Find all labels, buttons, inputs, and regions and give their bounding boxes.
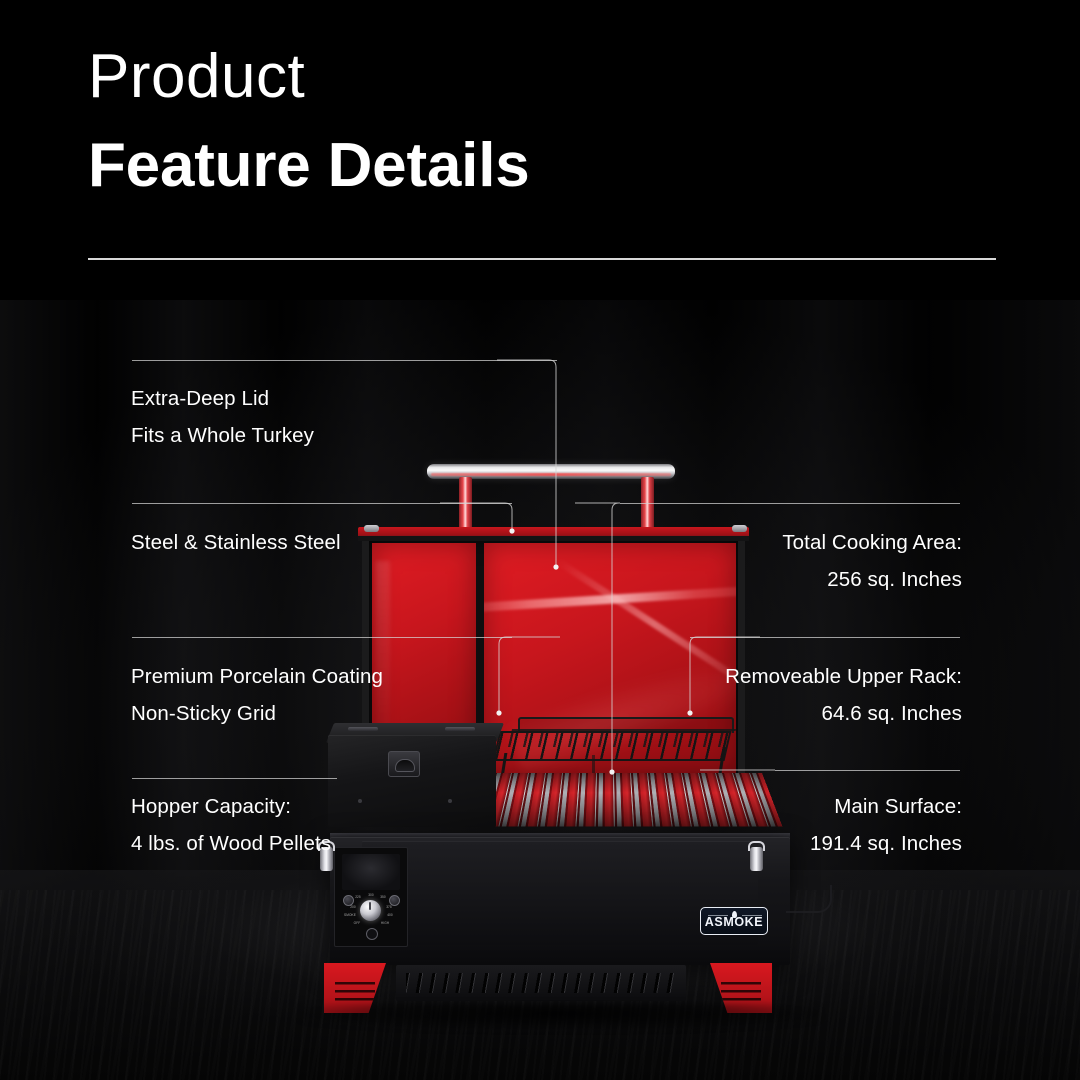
badge-rule-right [742,915,762,916]
body-front-panel [362,841,758,945]
page-title-line2: Feature Details [88,133,530,198]
lid-corner-cap-right [732,525,747,532]
callout-main-surface: Main Surface: 191.4 sq. Inches [810,788,962,862]
page-title-line1: Product [88,44,530,109]
base-vent [396,965,686,1001]
foot-slots-right [721,982,761,1002]
latch-body-right [750,847,763,871]
control-tick-5: 375 [383,905,395,910]
callout-extra-deep-lid-line1: Extra-Deep Lid [131,380,314,417]
product-drop-shadow [300,1003,820,1029]
hopper-hinge-right [445,727,475,731]
divider-hopper-capacity [132,778,337,779]
divider-porcelain-coating [132,637,512,638]
control-tick-6: 400 [384,913,396,918]
lid-handle-post-left [459,477,472,533]
callout-porcelain-coating-line1: Premium Porcelain Coating [131,658,383,695]
infographic-page: Product Feature Details [0,0,1080,1080]
base-vent-slots [406,973,676,993]
power-cord [786,885,832,913]
page-header: Product Feature Details [88,44,530,198]
callout-extra-deep-lid-line2: Fits a Whole Turkey [131,417,314,454]
lid-handle-post-right [641,477,654,533]
upper-rack-deck [493,731,732,761]
divider-extra-deep-lid [132,360,557,361]
callout-hopper-capacity: Hopper Capacity: 4 lbs. of Wood Pellets [131,788,331,862]
brand-badge: ASMOKE [700,907,768,935]
callout-porcelain-coating-line2: Non-Sticky Grid [131,695,383,732]
control-tick-2: 300 [365,893,377,898]
header-divider [88,258,996,260]
callout-hopper-capacity-line1: Hopper Capacity: [131,788,331,825]
hopper-screw-right [448,799,452,803]
lid-corner-cap-left [364,525,379,532]
divider-materials [132,503,512,504]
callout-extra-deep-lid: Extra-Deep Lid Fits a Whole Turkey [131,380,314,454]
callout-materials-line1: Steel & Stainless Steel [131,524,341,561]
divider-total-cooking-area [620,503,960,504]
control-tick-high: HIGH [379,921,391,926]
control-tick-4: 200 [347,905,359,910]
callout-materials: Steel & Stainless Steel [131,524,341,561]
pellet-hopper-box [328,735,496,827]
divider-main-surface [775,770,960,771]
callout-total-cooking-area: Total Cooking Area: 256 sq. Inches [782,524,962,598]
lid-top-rail [358,527,749,541]
callout-total-cooking-area-line2: 256 sq. Inches [782,561,962,598]
callout-upper-rack: Removeable Upper Rack: 64.6 sq. Inches [725,658,962,732]
callout-upper-rack-line2: 64.6 sq. Inches [725,695,962,732]
foot-slots-left [335,982,375,1002]
control-tick-3: 350 [377,895,389,900]
control-panel-window [342,854,400,890]
callout-main-surface-line2: 191.4 sq. Inches [810,825,962,862]
control-power-button[interactable] [366,928,378,940]
badge-rule-left [708,915,728,916]
callout-total-cooking-area-line1: Total Cooking Area: [782,524,962,561]
control-tick-smoke: SMOKE [341,913,359,918]
callout-upper-rack-line1: Removeable Upper Rack: [725,658,962,695]
callout-porcelain-coating: Premium Porcelain Coating Non-Sticky Gri… [131,658,383,732]
control-tick-1: 225 [352,895,364,900]
body-latch-right[interactable] [748,841,765,875]
product-image-asmoke-grill: 225 300 350 200 375 SMOKE 400 OFF HIGH A… [300,455,820,1015]
callout-hopper-capacity-line2: 4 lbs. of Wood Pellets [131,825,331,862]
flame-icon [732,911,737,918]
callout-main-surface-line1: Main Surface: [810,788,962,825]
hopper-screw-left [358,799,362,803]
temperature-dial[interactable] [360,900,381,921]
hopper-latch-handle [388,751,420,777]
control-panel[interactable]: 225 300 350 200 375 SMOKE 400 OFF HIGH [334,847,408,947]
divider-upper-rack [690,637,960,638]
control-tick-off: OFF [351,921,363,926]
